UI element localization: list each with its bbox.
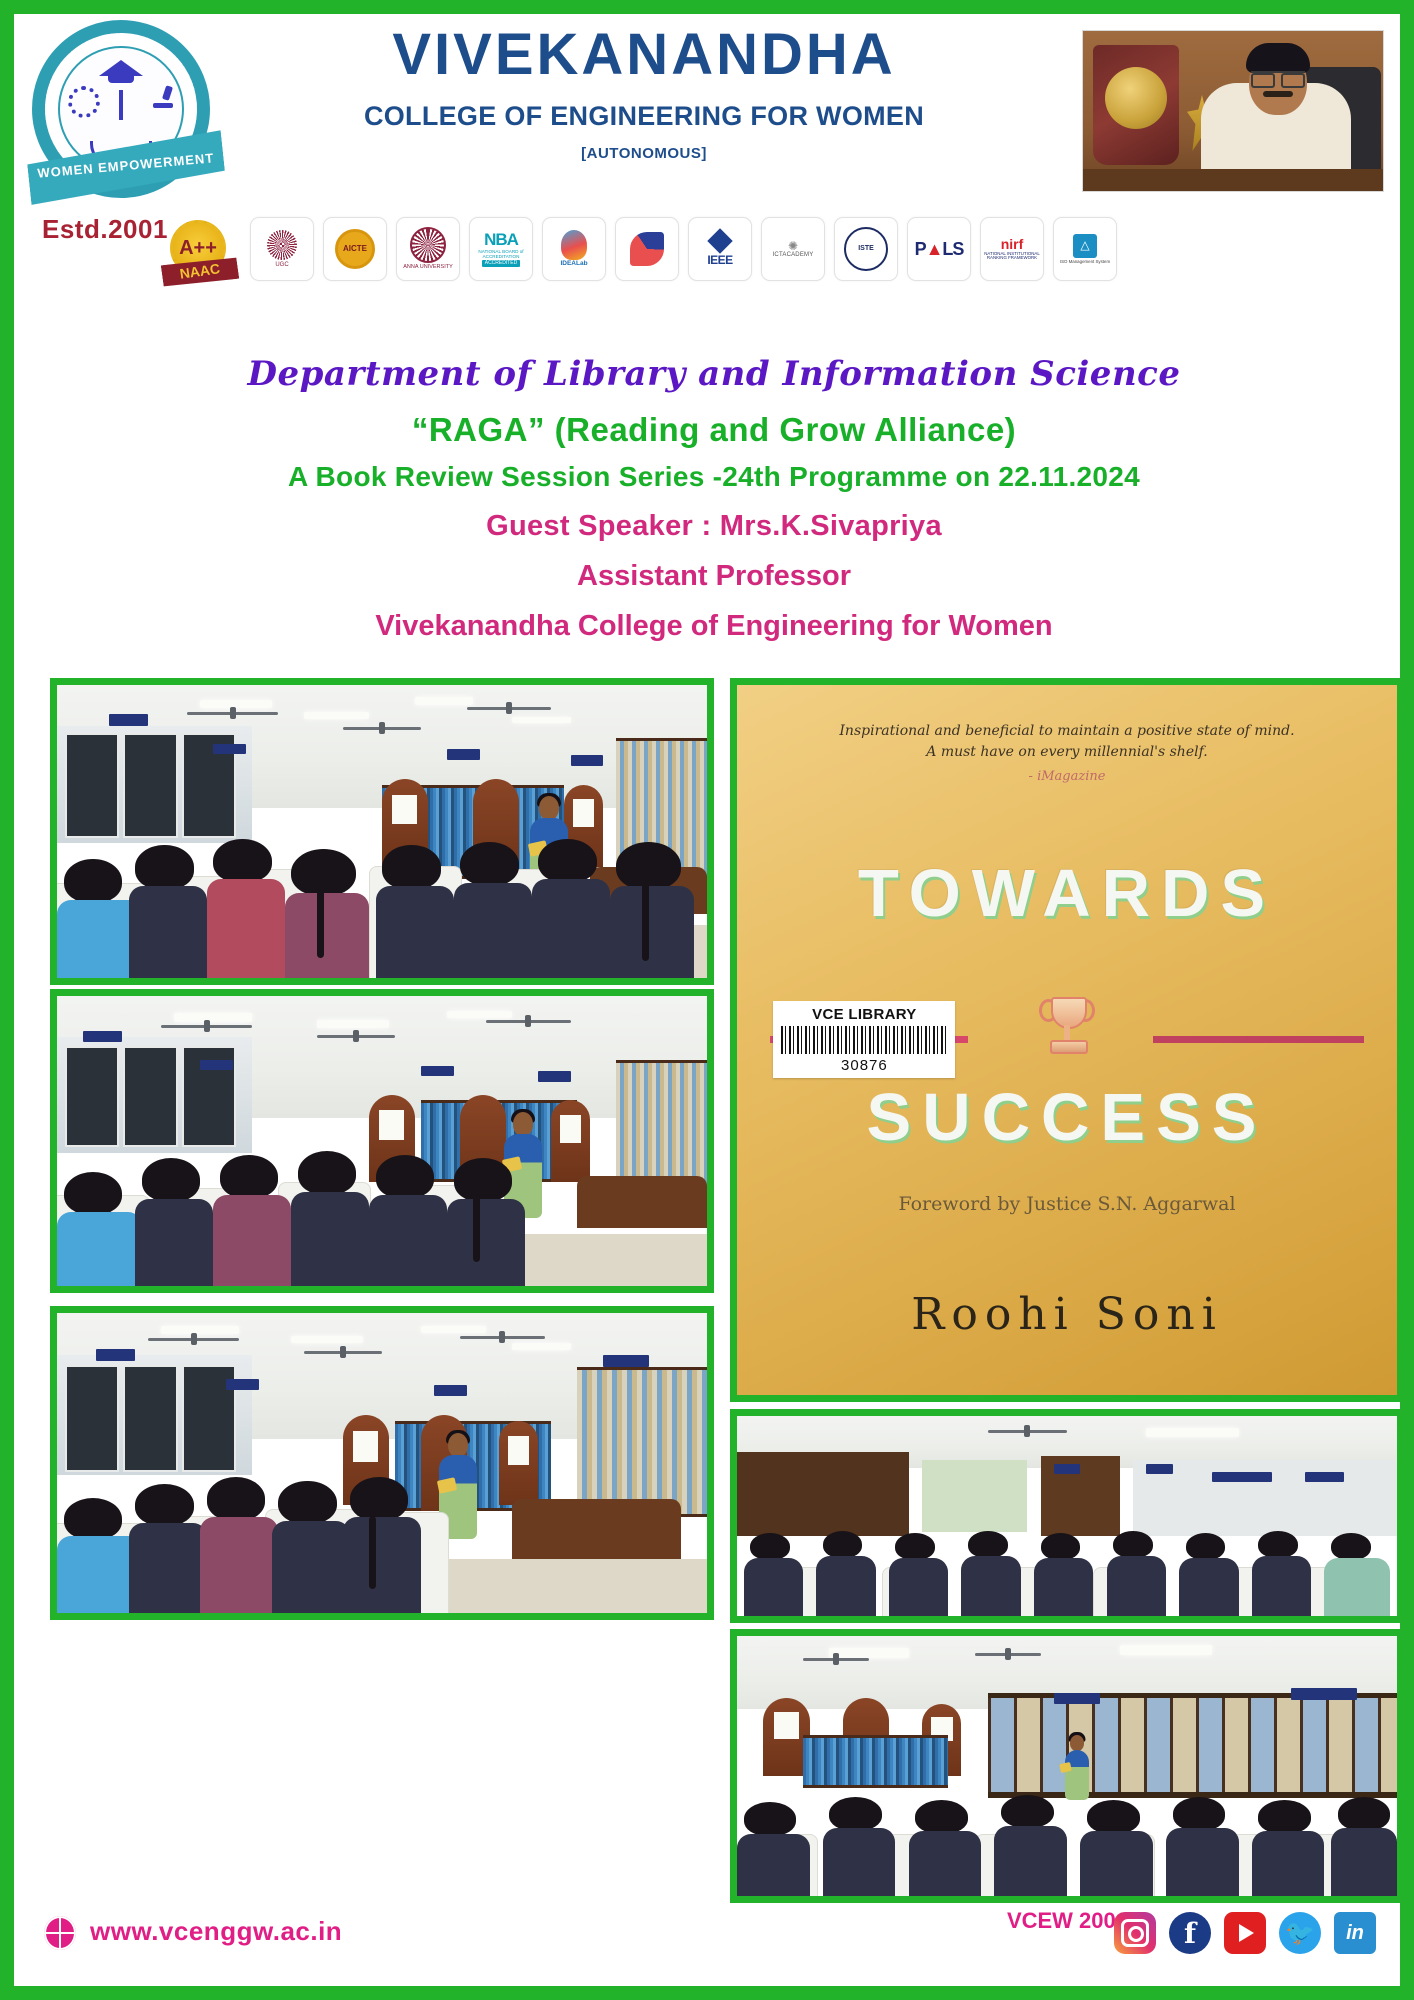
library-name: VCE LIBRARY: [775, 1006, 953, 1023]
program-series: A Book Review Session Series -24th Progr…: [28, 461, 1400, 493]
pals-logo-icon: P▲LS: [907, 217, 971, 281]
nba-logo-icon: NBA NATIONAL BOARD of ACCREDITATION ACCR…: [469, 217, 533, 281]
guest-speaker: Guest Speaker : Mrs.K.Sivapriya: [28, 510, 1400, 543]
anna-university-logo-icon: ANNA UNIVERSITY: [396, 217, 460, 281]
iso-certification-icon: △ ISO Management System: [1053, 217, 1117, 281]
book-quote-line1: Inspirational and beneficial to maintain…: [777, 721, 1358, 742]
aim-logo-icon: [615, 217, 679, 281]
ict-academy-logo-icon: ✺ ICTACADEMY: [761, 217, 825, 281]
photo-session-3: [50, 1306, 714, 1620]
microscope-icon: [153, 86, 173, 108]
institution-name: VIVEKANANDHA: [229, 26, 1059, 84]
accreditation-logos: UGC AICTE ANNA UNIVERSITY NBA NATIONAL B…: [250, 214, 1250, 284]
photo-audience-2: [730, 1629, 1404, 1903]
book-author: Roohi Soni: [737, 1289, 1397, 1340]
established-label: Estd.2001: [42, 214, 168, 245]
book-quote-line2: A must have on every millennial's shelf.: [777, 742, 1358, 763]
iste-logo-icon: ISTE: [834, 217, 898, 281]
idealab-logo-icon: IDEALab: [542, 217, 606, 281]
institution-title-block: VIVEKANANDHA COLLEGE OF ENGINEERING FOR …: [229, 26, 1059, 162]
library-barcode-label: VCE LIBRARY 30876: [773, 1001, 955, 1078]
website-url[interactable]: www.vcenggw.ac.in: [90, 1916, 342, 1947]
event-details: Department of Library and Information Sc…: [28, 354, 1400, 643]
social-links: f 🐦 in: [1114, 1912, 1376, 1954]
globe-icon: [44, 1916, 76, 1950]
book-title-top: TOWARDS: [737, 855, 1397, 932]
barcode-icon: [781, 1026, 947, 1054]
speaker-designation: Assistant Professor: [28, 560, 1400, 593]
naac-badge: A++ NAAC: [162, 220, 238, 290]
instagram-icon[interactable]: [1114, 1912, 1156, 1954]
naac-grade: A++: [173, 237, 223, 260]
department-title: Department of Library and Information Sc…: [28, 354, 1400, 394]
photo-session-2: [50, 989, 714, 1293]
linkedin-icon[interactable]: in: [1334, 1912, 1376, 1954]
nirf-logo-icon: nirf NATIONAL INSTITUTIONAL RANKING FRAM…: [980, 217, 1044, 281]
ugc-logo-icon: UGC: [250, 217, 314, 281]
book-title-bottom: SUCCESS: [737, 1079, 1397, 1156]
photo-audience-1: [730, 1409, 1404, 1623]
principal-photo: [1082, 30, 1384, 192]
book-cover: Inspirational and beneficial to maintain…: [730, 678, 1404, 1402]
poster-root: VIVEKANANDHA EDUCATIONAL INSTITUTIONS FO…: [0, 0, 1414, 2000]
caduceus-icon: [119, 90, 123, 120]
ieee-logo-icon: IEEE: [688, 217, 752, 281]
trophy-icon: [1041, 997, 1093, 1059]
institution-subtitle: COLLEGE OF ENGINEERING FOR WOMEN: [229, 101, 1059, 132]
college-logo: VIVEKANANDHA EDUCATIONAL INSTITUTIONS FO…: [32, 20, 222, 220]
autonomous-label: [AUTONOMOUS]: [229, 145, 1059, 162]
speaker-affiliation: Vivekanandha College of Engineering for …: [28, 610, 1400, 643]
youtube-icon[interactable]: [1224, 1912, 1266, 1954]
trophy-shield-icon: [1093, 45, 1179, 165]
book-quote: Inspirational and beneficial to maintain…: [777, 721, 1358, 787]
poster-header: VIVEKANANDHA EDUCATIONAL INSTITUTIONS FO…: [14, 14, 1400, 264]
aicte-logo-icon: AICTE: [323, 217, 387, 281]
social-handle: VCEW 2001: [1007, 1908, 1128, 1934]
program-title: “RAGA” (Reading and Grow Alliance): [28, 411, 1400, 449]
photo-session-1: [50, 678, 714, 985]
facebook-icon[interactable]: f: [1169, 1912, 1211, 1954]
book-quote-source: - iMagazine: [777, 767, 1358, 787]
poster-footer: www.vcenggw.ac.in VCEW 2001 f 🐦 in: [28, 1894, 1386, 1972]
twitter-icon[interactable]: 🐦: [1279, 1912, 1321, 1954]
accession-number: 30876: [775, 1057, 953, 1074]
book-foreword: Foreword by Justice S.N. Aggarwal: [737, 1193, 1397, 1215]
gear-icon: [68, 86, 100, 118]
